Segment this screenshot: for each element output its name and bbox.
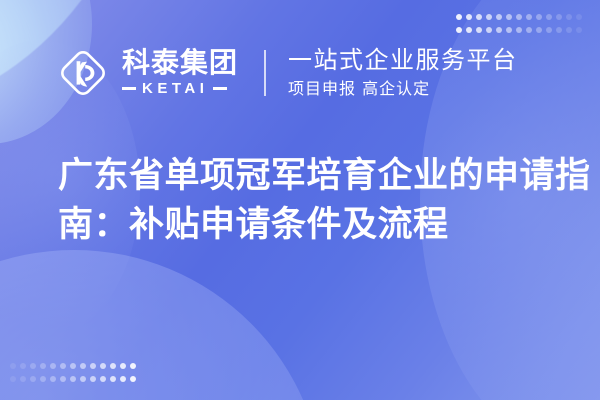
decorative-dot <box>476 27 482 33</box>
decorative-dot <box>516 14 522 20</box>
decorative-dot <box>120 376 126 382</box>
decorative-dot <box>120 363 126 369</box>
decorative-dot <box>10 363 16 369</box>
decorative-dot <box>526 27 532 33</box>
page-title: 广东省单项冠军培育企业的申请指 南：补贴申请条件及流程 <box>58 152 558 250</box>
decorative-dot <box>536 14 542 20</box>
decorative-dot <box>576 27 582 33</box>
banner-header: 科泰集团 KETAI 一站式企业服务平台 项目申报 高企认定 <box>56 40 518 106</box>
decorative-dot <box>456 14 462 20</box>
decorative-dot <box>20 376 26 382</box>
page-title-line-1: 广东省单项冠军培育企业的申请指 <box>58 152 558 201</box>
decorative-dot <box>100 376 106 382</box>
decorative-dot <box>566 14 572 20</box>
decorative-dot <box>70 363 76 369</box>
decorative-dot <box>10 376 16 382</box>
decorative-dot <box>50 376 56 382</box>
brand-name-en-row: KETAI <box>122 80 238 97</box>
rule-left-icon <box>122 87 136 90</box>
ketai-diamond-k-icon <box>56 46 110 100</box>
rule-right-icon <box>213 87 227 90</box>
decorative-dot <box>476 14 482 20</box>
page-title-line-2: 南：补贴申请条件及流程 <box>58 201 558 250</box>
decorative-dot <box>110 376 116 382</box>
decorative-dot <box>130 376 136 382</box>
tagline-block: 一站式企业服务平台 项目申报 高企认定 <box>288 47 518 100</box>
decorative-dot <box>466 14 472 20</box>
decorative-dot <box>496 27 502 33</box>
decorative-dot <box>30 363 36 369</box>
decorative-dot <box>516 27 522 33</box>
decorative-dot <box>40 363 46 369</box>
decorative-dot <box>70 376 76 382</box>
decorative-dot <box>566 27 572 33</box>
decorative-dot <box>50 363 56 369</box>
decorative-dot <box>506 27 512 33</box>
decorative-dot <box>486 14 492 20</box>
decorative-dot <box>546 14 552 20</box>
tagline-secondary: 项目申报 高企认定 <box>288 79 518 99</box>
decorative-dot <box>90 363 96 369</box>
decorative-dot <box>90 376 96 382</box>
decorative-dot <box>30 376 36 382</box>
header-divider <box>264 50 266 96</box>
tagline-primary: 一站式企业服务平台 <box>288 47 518 75</box>
decorative-dot <box>526 14 532 20</box>
decorative-dot <box>496 14 502 20</box>
decorative-dot <box>506 14 512 20</box>
decorative-dot <box>486 27 492 33</box>
decorative-dot <box>556 27 562 33</box>
decorative-dot <box>80 376 86 382</box>
decorative-dot <box>546 27 552 33</box>
decorative-dot <box>130 363 136 369</box>
decorative-dot <box>110 363 116 369</box>
brand-name-cn: 科泰集团 <box>122 49 238 78</box>
decorative-dot <box>536 27 542 33</box>
decorative-dot <box>456 27 462 33</box>
brand-wordmark: 科泰集团 KETAI <box>122 49 238 98</box>
decorative-dot <box>80 363 86 369</box>
decorative-dot <box>20 363 26 369</box>
decorative-dot <box>556 14 562 20</box>
promo-banner: 科泰集团 KETAI 一站式企业服务平台 项目申报 高企认定 广东省单项冠军培育… <box>0 0 600 400</box>
decorative-dot <box>60 376 66 382</box>
decorative-dot <box>466 27 472 33</box>
dot-grid-bottom-left <box>10 361 140 384</box>
decorative-dot <box>60 363 66 369</box>
decorative-dot <box>576 14 582 20</box>
brand-name-en: KETAI <box>142 80 208 97</box>
dot-grid-top-right <box>456 12 586 35</box>
decorative-dot <box>100 363 106 369</box>
brand-logo[interactable]: 科泰集团 KETAI <box>56 46 238 100</box>
decorative-dot <box>40 376 46 382</box>
